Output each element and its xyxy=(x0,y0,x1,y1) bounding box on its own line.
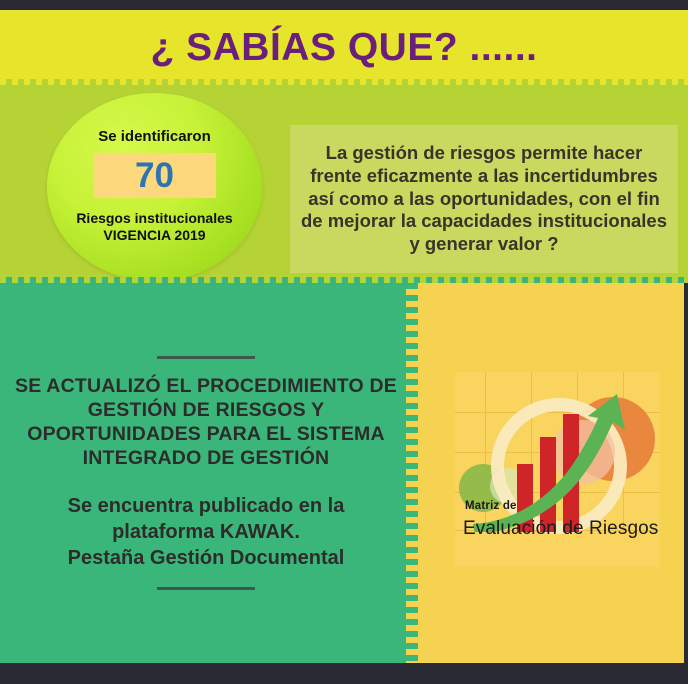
green-info-panel: SE ACTUALIZÓ EL PROCEDIMIENTO DE GESTIÓN… xyxy=(0,283,412,663)
badge-top-label: Se identificaron xyxy=(98,129,211,146)
badge-number: 70 xyxy=(135,158,174,193)
logo-label-big: Evaluación de Riesgos xyxy=(463,518,658,540)
divider-bottom xyxy=(157,587,255,590)
perforation-panel-divider xyxy=(406,283,418,663)
infographic-poster: ¿ SABÍAS QUE? ...... Se identificaron 70… xyxy=(0,0,688,684)
top-chrome-bar xyxy=(0,0,688,10)
divider-top xyxy=(157,356,255,359)
green-panel-content: SE ACTUALIZÓ EL PROCEDIMIENTO DE GESTIÓN… xyxy=(0,283,412,663)
badge-bottom-label: Riesgos institucionales VIGENCIA 2019 xyxy=(76,210,232,245)
badge-bottom-line1: Riesgos institucionales xyxy=(76,210,232,228)
risk-matrix-logo: Matriz de Evaluación de Riesgos xyxy=(455,372,660,567)
statement-text: La gestión de riesgos permite hacer fren… xyxy=(298,142,670,257)
right-edge-strip xyxy=(684,283,688,663)
green-panel-heading: SE ACTUALIZÓ EL PROCEDIMIENTO DE GESTIÓN… xyxy=(12,374,400,471)
green-subtext-line1: Se encuentra publicado en la xyxy=(68,494,345,520)
green-subtext-line3: Pestaña Gestión Documental xyxy=(68,546,345,572)
page-title: ¿ SABÍAS QUE? ...... xyxy=(150,28,537,67)
stat-badge: Se identificaron 70 Riesgos instituciona… xyxy=(47,93,262,281)
green-panel-subtext: Se encuentra publicado en la plataforma … xyxy=(68,494,345,571)
badge-number-box: 70 xyxy=(94,153,216,198)
statement-box: La gestión de riesgos permite hacer fren… xyxy=(290,125,678,273)
badge-bottom-line2: VIGENCIA 2019 xyxy=(76,227,232,245)
header-band: ¿ SABÍAS QUE? ...... xyxy=(0,10,688,85)
green-subtext-line2: plataforma KAWAK. xyxy=(68,520,345,546)
bottom-chrome-bar xyxy=(0,663,688,684)
logo-label-small: Matriz de xyxy=(465,500,517,512)
